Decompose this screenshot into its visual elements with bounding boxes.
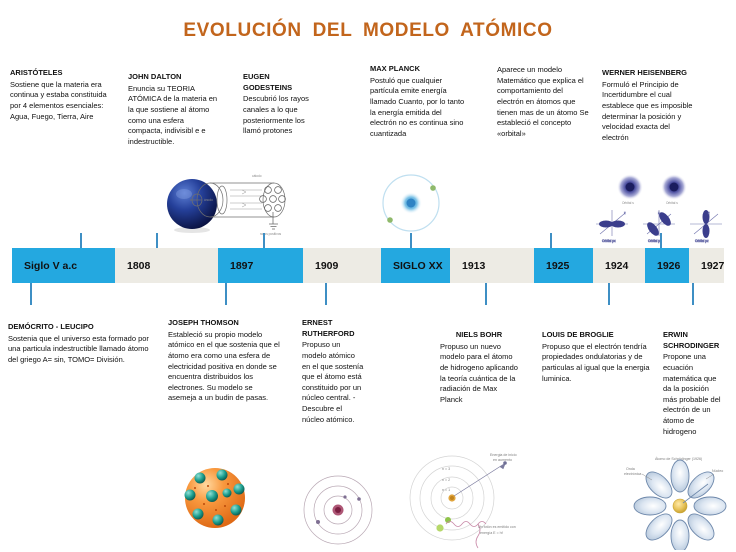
- svg-text:n = 1: n = 1: [442, 488, 450, 492]
- entry-aristoteles: ARISTÓTELES Sostiene que la materia era …: [10, 68, 114, 122]
- timeline-segment-label: 1909: [315, 260, 338, 272]
- connector-tick-democrito: [30, 283, 32, 305]
- entry-werner-heisenberg-text: Formuló el Principio de Incertidumbre el…: [602, 80, 694, 144]
- entry-john-dalton-name: JOHN DALTON: [128, 72, 220, 83]
- svg-text:energía E = hf: energía E = hf: [480, 531, 503, 535]
- timeline-segment-1925[interactable]: 1925: [534, 248, 593, 283]
- timeline-segment-1909[interactable]: 1909: [303, 248, 381, 283]
- connector-tick-heisenberg-2: [660, 233, 662, 249]
- entry-niels-bohr: NIELS BOHR Propuso un nuevo modelo para …: [440, 330, 518, 405]
- timeline-segment-1913[interactable]: 1913: [450, 248, 534, 283]
- connector-tick-heisenberg: [550, 233, 552, 249]
- connector-tick-dalton: [80, 233, 82, 249]
- entry-democrito-leucipo-text: Sostenia que el universo esta formado po…: [8, 334, 150, 366]
- schrodinger-atom-icon: Átomo de Schrödinger (1926) Onda electró…: [622, 448, 734, 550]
- timeline-segment-label: 1897: [230, 260, 253, 272]
- entry-max-planck-text: Postuló que cualquier partícula emite en…: [370, 76, 466, 140]
- timeline-segment-label: 1927: [701, 260, 724, 272]
- entry-modelo-matematico: Aparece un modelo Matemático que explica…: [497, 65, 589, 139]
- timeline-segment-label: 1913: [462, 260, 485, 272]
- entry-john-dalton-text: Enuncia su TEORIA ATÓMICA de la materia …: [128, 84, 220, 148]
- entry-niels-bohr-name: NIELS BOHR: [440, 330, 518, 341]
- entry-werner-heisenberg: WERNER HEISENBERG Formuló el Principio d…: [602, 68, 694, 143]
- planck-atom-icon: [378, 170, 444, 238]
- svg-text:cátodo: cátodo: [252, 174, 262, 178]
- plum-pudding-atom-icon: [178, 462, 254, 536]
- svg-text:z: z: [708, 211, 710, 215]
- entry-niels-bohr-text: Propuso un nuevo modelo para el átomo de…: [440, 342, 518, 406]
- schrodinger-wave-label: Onda: [626, 467, 635, 471]
- svg-text:n = 3: n = 3: [442, 467, 450, 471]
- connector-tick-planck: [263, 233, 265, 249]
- connector-tick-debroglie: [608, 283, 610, 305]
- canal-ray-tube-icon: cátodo ánodo rayos positivos: [190, 168, 290, 240]
- entry-democrito-leucipo-name: DEMÓCRITO - LEUCIPO: [8, 322, 150, 333]
- timeline-segment-1926[interactable]: 1926: [645, 248, 689, 283]
- timeline-segment-label: 1926: [657, 260, 680, 272]
- timeline-segment-siglo-xx[interactable]: SIGLO XX: [381, 248, 450, 283]
- timeline-segment-label: Siglo V a.c: [24, 260, 77, 272]
- entry-democrito-leucipo: DEMÓCRITO - LEUCIPO Sostenia que el univ…: [8, 322, 150, 366]
- bohr-photon-label: Un fotón es emitido con: [478, 525, 516, 529]
- entry-louis-de-broglie-name: LOUIS DE BROGLIE: [542, 330, 652, 341]
- svg-text:en aumento: en aumento: [493, 458, 512, 462]
- connector-tick-schrodinger: [692, 283, 694, 305]
- svg-text:z: z: [624, 211, 626, 215]
- entry-max-planck: MAX PLANCK Postuló que cualquier partícu…: [370, 64, 466, 139]
- connector-tick-rutherford: [325, 283, 327, 305]
- timeline-segment-label: 1925: [546, 260, 569, 272]
- entry-ernest-rutherford: ERNEST RUTHERFORD Propuso un modelo atóm…: [302, 318, 364, 425]
- entry-modelo-matematico-text: Aparece un modelo Matemático que explica…: [497, 65, 589, 139]
- timeline-segment-label: 1808: [127, 260, 150, 272]
- entry-louis-de-broglie-text: Propuso que el electrón tendría propieda…: [542, 342, 652, 385]
- bohr-energy-label: Energia de inicio: [490, 453, 517, 457]
- svg-text:electrónica: electrónica: [624, 472, 641, 476]
- connector-tick-goldstein: [156, 233, 158, 249]
- page-title: EVOLUCIÓN DEL MODELO ATÓMICO: [0, 20, 736, 42]
- timeline-bar: Siglo V a.c 1808 1897 1909 SIGLO XX 1913…: [12, 248, 724, 283]
- entry-erwin-schrodinger-text: Propone una ecuación matemática que da l…: [663, 352, 725, 437]
- svg-text:ánodo: ánodo: [204, 198, 213, 202]
- timeline-segment-1927[interactable]: 1927: [689, 248, 724, 283]
- entry-joseph-thomson-name: JOSEPH THOMSON: [168, 318, 280, 329]
- bohr-atom-icon: Energia de inicio en aumento Un fotón es…: [404, 448, 534, 552]
- entry-erwin-schrodinger: ERWIN SCHRODINGER Propone una ecuación m…: [663, 330, 725, 437]
- entry-aristoteles-name: ARISTÓTELES: [10, 68, 114, 79]
- timeline-segment-1897[interactable]: 1897: [218, 248, 303, 283]
- entry-erwin-schrodinger-name: ERWIN SCHRODINGER: [663, 330, 725, 351]
- timeline-segment-label: 1924: [605, 260, 628, 272]
- timeline-segment-siglo-v-ac[interactable]: Siglo V a.c: [12, 248, 115, 283]
- entry-max-planck-name: MAX PLANCK: [370, 64, 466, 75]
- entry-eugen-goldsteins-name: EUGEN GODESTEINS: [243, 72, 319, 93]
- entry-ernest-rutherford-name: ERNEST RUTHERFORD: [302, 318, 364, 339]
- connector-tick-thomson: [225, 283, 227, 305]
- timeline-segment-label: SIGLO XX: [393, 260, 443, 272]
- svg-text:Orbital s: Orbital s: [622, 201, 634, 205]
- svg-text:Orbital px: Orbital px: [602, 239, 616, 243]
- entry-werner-heisenberg-name: WERNER HEISENBERG: [602, 68, 694, 79]
- entry-aristoteles-text: Sostiene que la materia era continua y e…: [10, 80, 114, 123]
- entry-joseph-thomson-text: Estableció su propio modelo atómico en e…: [168, 330, 280, 404]
- svg-text:Orbital pz: Orbital pz: [695, 239, 709, 243]
- schrodinger-nucleus-label: Núcleo: [712, 469, 723, 473]
- entry-john-dalton: JOHN DALTON Enuncia su TEORIA ATÓMICA de…: [128, 72, 220, 147]
- entry-louis-de-broglie: LOUIS DE BROGLIE Propuso que el electrón…: [542, 330, 652, 384]
- connector-tick-matematico: [410, 233, 412, 249]
- rutherford-atom-icon: [296, 470, 380, 550]
- connector-tick-bohr: [485, 283, 487, 305]
- entry-eugen-goldsteins-text: Descubrió los rayos canales a lo que pos…: [243, 94, 319, 137]
- timeline-segment-1808[interactable]: 1808: [115, 248, 218, 283]
- svg-text:n = 2: n = 2: [442, 478, 450, 482]
- svg-text:Orbital s: Orbital s: [666, 201, 678, 205]
- timeline-segment-1924[interactable]: 1924: [593, 248, 645, 283]
- entry-eugen-goldsteins: EUGEN GODESTEINS Descubrió los rayos can…: [243, 72, 319, 137]
- entry-joseph-thomson: JOSEPH THOMSON Estableció su propio mode…: [168, 318, 280, 404]
- entry-ernest-rutherford-text: Propuso un modelo atómico en el que sost…: [302, 340, 364, 425]
